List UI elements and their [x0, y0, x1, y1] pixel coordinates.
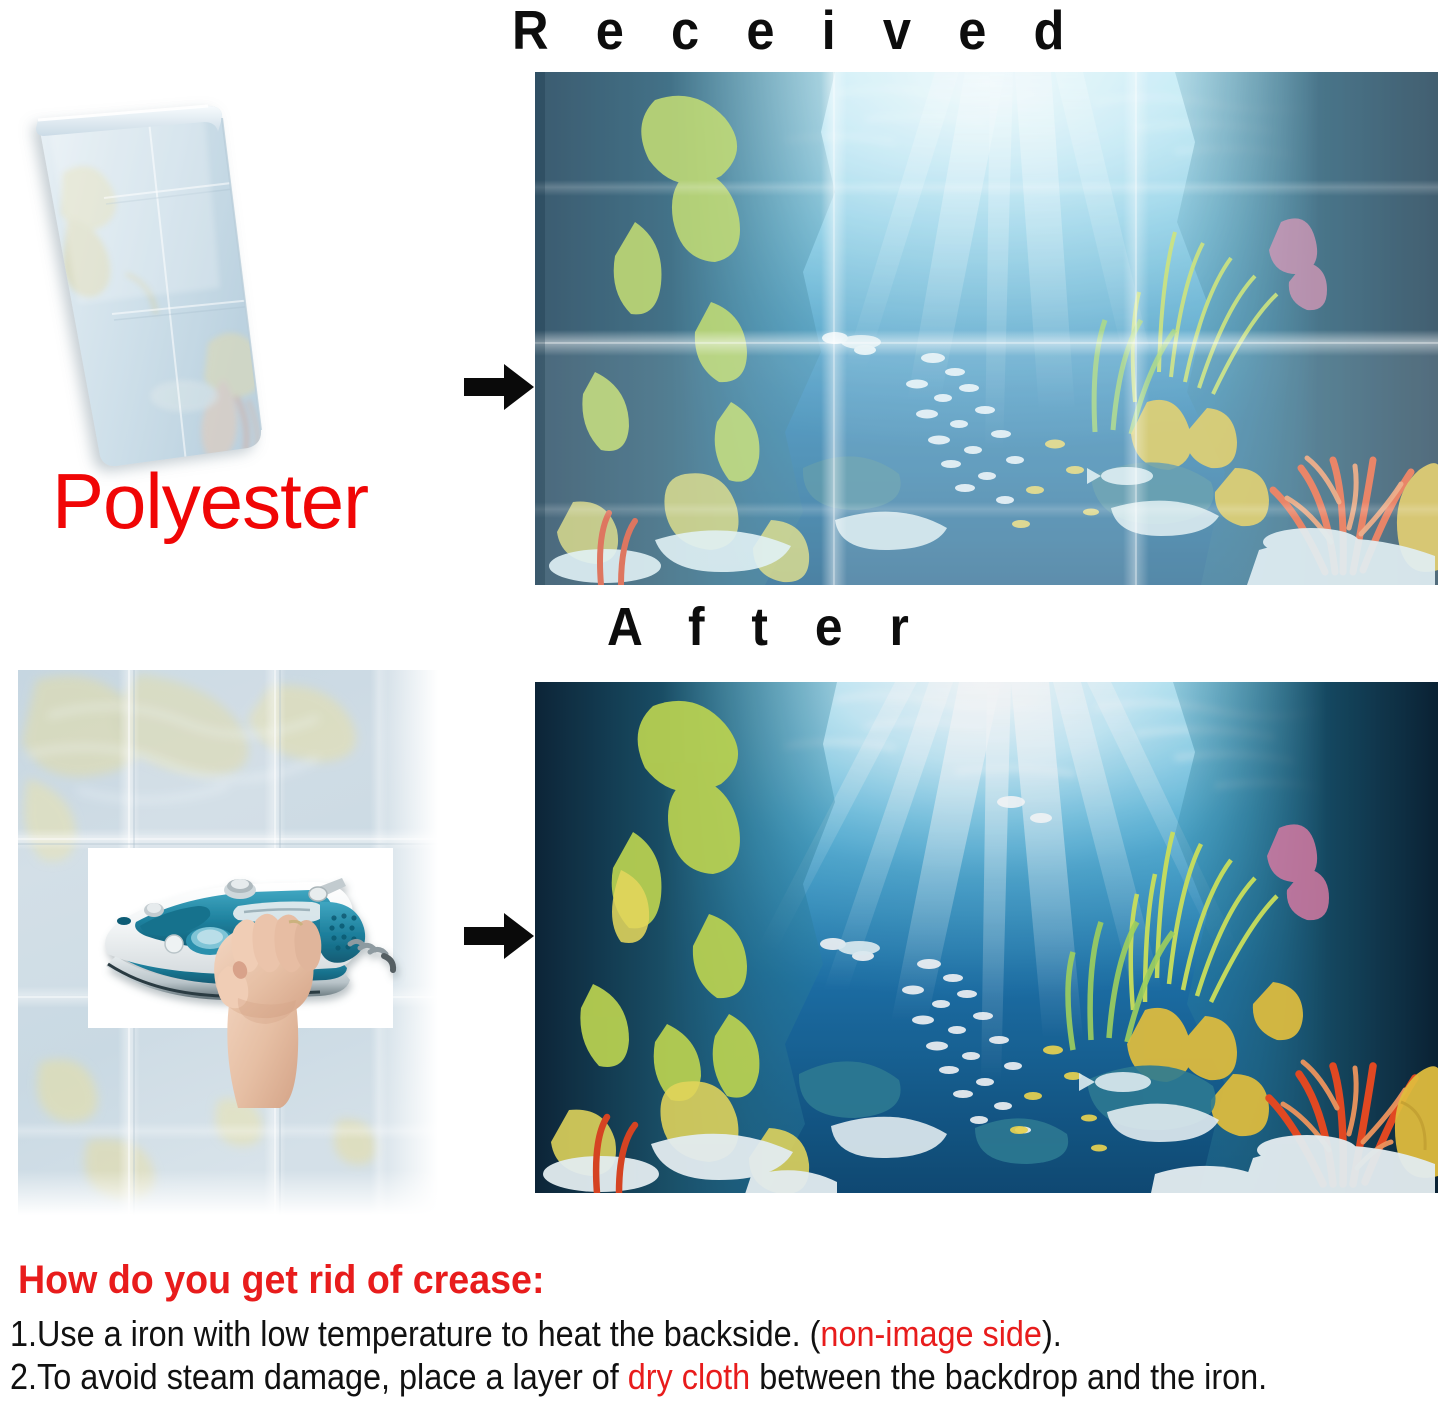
care-line-2-prefix: 2.To avoid steam damage, place a layer o…: [10, 1356, 628, 1397]
received-backdrop-photo: [535, 72, 1438, 585]
care-instruction-line-1: 1.Use a iron with low temperature to hea…: [10, 1313, 1062, 1355]
care-instructions-heading: How do you get rid of crease:: [18, 1258, 544, 1303]
received-section-title: R e c e i v e d: [512, 0, 1081, 62]
polyester-material-label: Polyester: [52, 456, 368, 547]
crease-overlay: [535, 72, 1438, 585]
polyester-fabric-roll-image: [8, 78, 438, 498]
care-line-2-suffix: between the backdrop and the iron.: [750, 1356, 1267, 1397]
care-instruction-line-2: 2.To avoid steam damage, place a layer o…: [10, 1356, 1267, 1398]
care-line-1-suffix: ).: [1042, 1313, 1062, 1354]
steam-iron-photo: [88, 848, 393, 1028]
care-line-1-prefix: 1.Use a iron with low temperature to hea…: [10, 1313, 820, 1354]
care-line-2-highlight: dry cloth: [628, 1356, 750, 1397]
after-backdrop-photo: [535, 682, 1438, 1193]
after-section-title: A f t e r: [607, 596, 925, 658]
right-arrow-icon-after: [464, 910, 534, 962]
right-arrow-icon-received: [464, 361, 534, 413]
care-line-1-highlight: non-image side: [820, 1313, 1042, 1354]
